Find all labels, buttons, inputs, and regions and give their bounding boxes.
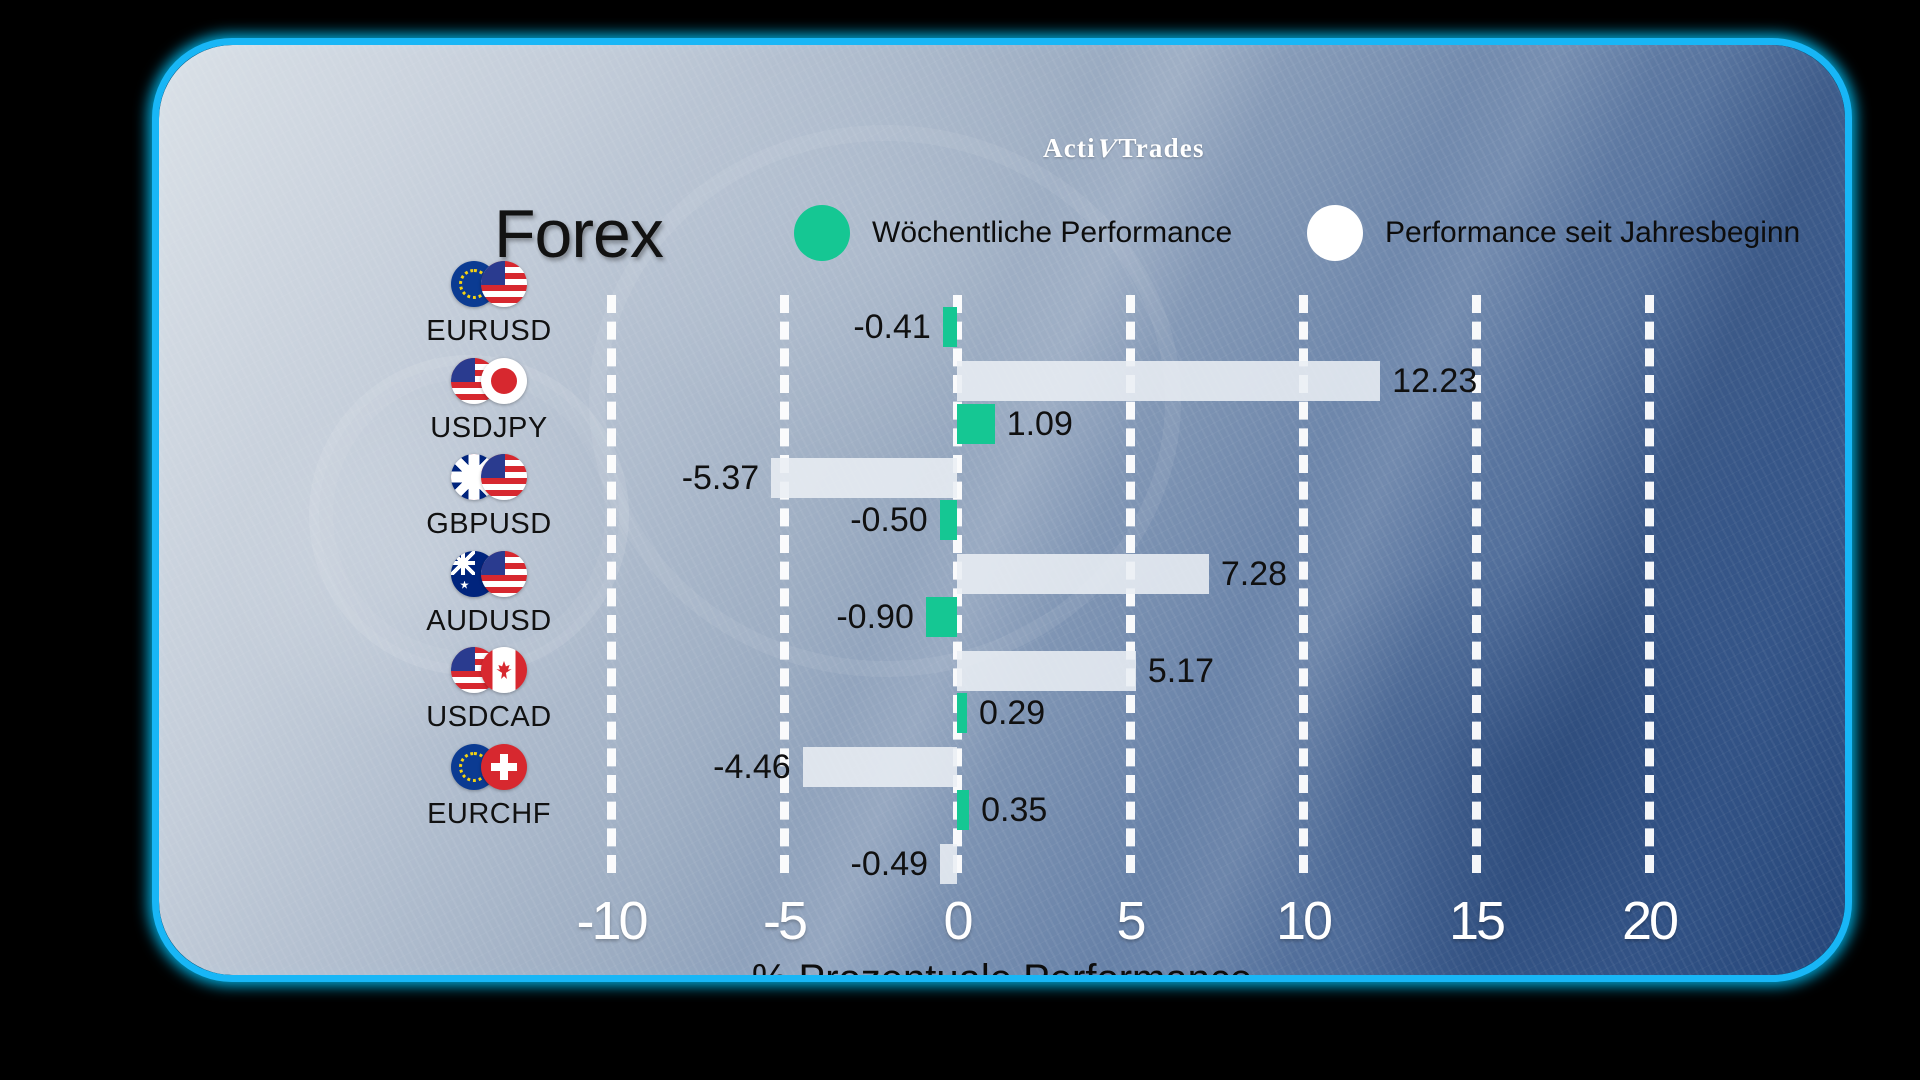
flag-eu-icon [451, 261, 497, 307]
flag-ch-icon [481, 744, 527, 790]
x-tick-label--10: -10 [576, 890, 645, 952]
x-tick-label-10: 10 [1276, 890, 1330, 952]
federal-reserve-seal-watermark [309, 355, 629, 675]
currency-pair-label-eurchf: EURCHF [374, 798, 604, 831]
value-label-ytd-gbpusd: 7.28 [1221, 554, 1287, 594]
legend-item-ytd: Performance seit Jahresbeginn [1307, 205, 1800, 261]
activtrades-logo: ActiVTrades [1043, 133, 1205, 164]
flag-eu-icon [451, 744, 497, 790]
bar-weekly-usdcad [957, 693, 967, 733]
x-tick-label-5: 5 [1116, 890, 1143, 952]
currency-pair-label-eurusd: EURUSD [374, 315, 604, 348]
value-label-ytd-eurusd: 12.23 [1392, 361, 1477, 401]
logo-text-acti: Acti [1043, 133, 1096, 163]
logo-text-trades: Trades [1118, 133, 1204, 163]
value-label-ytd-audusd: 5.17 [1148, 651, 1214, 691]
legend-dot-green-icon [794, 205, 850, 261]
x-tick-label-0: 0 [943, 890, 970, 952]
screenshot-root: ActiVTrades Forex Wöchentliche Performan… [0, 0, 1920, 1080]
page-title: Forex [494, 195, 663, 273]
legend-dot-white-icon [1307, 205, 1363, 261]
value-label-ytd-eurchf: -0.49 [851, 844, 929, 884]
x-tick-label-15: 15 [1449, 890, 1503, 952]
chart-card: ActiVTrades Forex Wöchentliche Performan… [159, 45, 1845, 975]
legend-label-ytd: Performance seit Jahresbeginn [1385, 216, 1800, 250]
bar-ytd-usdcad [803, 747, 957, 787]
gridline-10 [1299, 295, 1308, 873]
legend-item-weekly: Wöchentliche Performance [794, 205, 1232, 261]
chart-card-frame: ActiVTrades Forex Wöchentliche Performan… [152, 38, 1852, 982]
currency-flags-eurchf [374, 744, 604, 790]
value-label-ytd-usdcad: -4.46 [713, 747, 791, 787]
chart-axis-title: % Prozentuale Performance [159, 957, 1845, 975]
gridline-15 [1472, 295, 1481, 873]
gridline-20 [1645, 295, 1654, 873]
value-label-weekly-eurchf: 0.35 [981, 790, 1047, 830]
bar-ytd-eurchf [940, 844, 957, 884]
value-label-weekly-usdcad: 0.29 [979, 693, 1045, 733]
legend-label-weekly: Wöchentliche Performance [872, 216, 1232, 250]
currency-pair-label-usdcad: USDCAD [374, 701, 604, 734]
x-tick-label--5: -5 [763, 890, 805, 952]
bar-weekly-eurchf [957, 790, 969, 830]
x-tick-label-20: 20 [1622, 890, 1676, 952]
